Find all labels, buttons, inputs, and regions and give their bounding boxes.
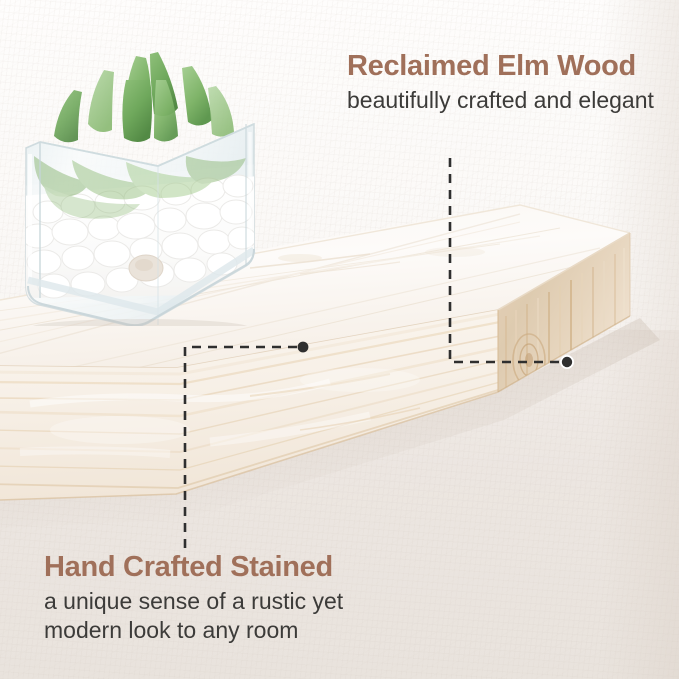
potted-succulent (8, 36, 268, 326)
callout-heading-hand-crafted-stained: Hand Crafted Stained (44, 551, 384, 584)
callout-hand-crafted-stained: Hand Crafted Stained a unique sense of a… (44, 551, 384, 645)
product-infographic-scene: Reclaimed Elm Wood beautifully crafted a… (0, 0, 679, 679)
callout-reclaimed-elm-wood: Reclaimed Elm Wood beautifully crafted a… (347, 50, 654, 115)
callout-heading-reclaimed-elm-wood: Reclaimed Elm Wood (347, 50, 654, 83)
callout-body-hand-crafted-stained: a unique sense of a rustic yet modern lo… (44, 587, 384, 645)
succulent-in-glass-vase (8, 36, 268, 326)
glass-cube-vase (22, 124, 258, 326)
succulent-foliage-back (54, 52, 234, 142)
callout-body-reclaimed-elm-wood: beautifully crafted and elegant (347, 86, 654, 115)
